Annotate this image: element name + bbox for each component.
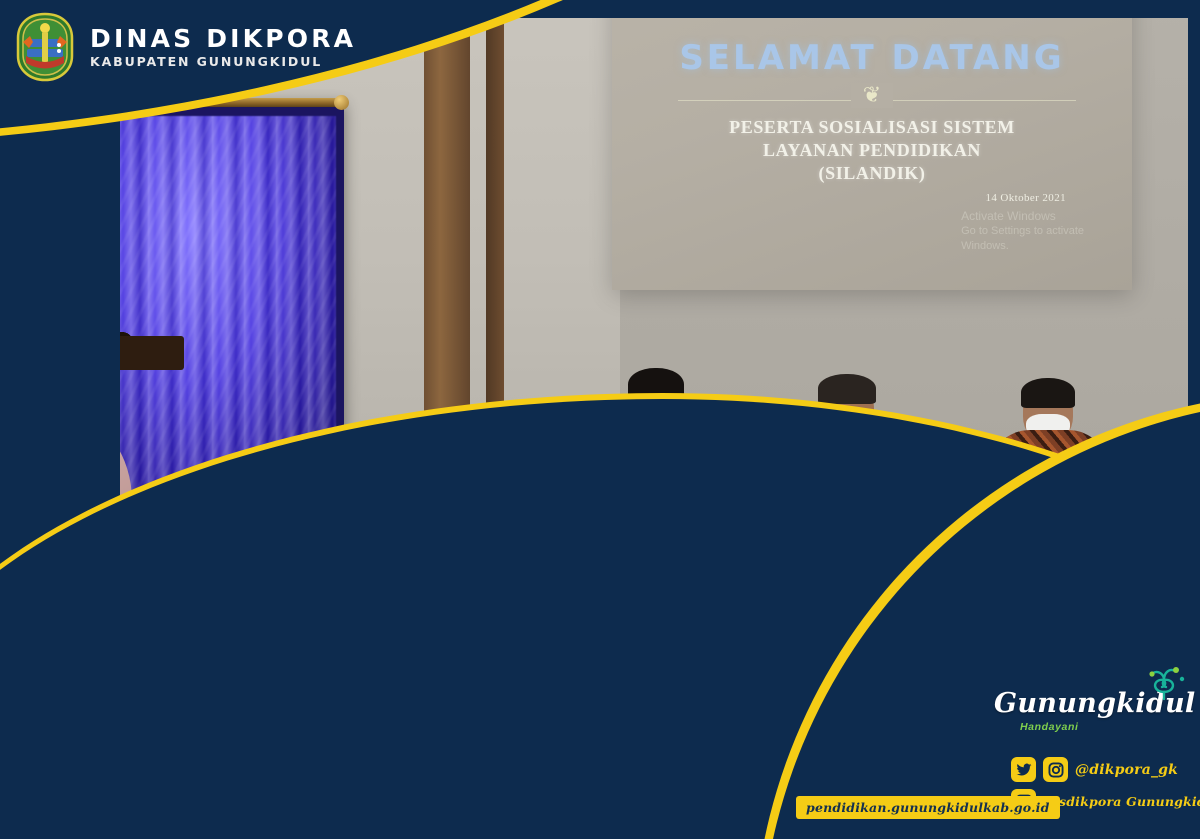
wall-pillar-center-2 <box>486 0 504 520</box>
curtain-rod-knob-left <box>12 95 27 110</box>
brand-lockup: DINAS DIKPORA KABUPATEN GUNUNGKIDUL <box>14 12 356 82</box>
attendee-maroon-right <box>1128 414 1200 604</box>
attendee-yellow-1-brooch <box>186 500 238 536</box>
slide-subtitle-line-3: (SILANDIK) <box>612 162 1132 185</box>
attendee-yellow-2-band <box>300 612 420 626</box>
social-row-primary: @dikpora_gk <box>1011 757 1186 782</box>
attendee-pink-mask <box>22 466 92 492</box>
website-url[interactable]: pendidikan.gunungkidulkab.go.id <box>796 796 1060 819</box>
twitter-bird-icon[interactable] <box>1011 757 1036 782</box>
handheld-microphone <box>843 432 853 466</box>
podium-plate <box>26 386 72 397</box>
poster-frame: SELAMAT DATANG ❦ PESERTA SOSIALISASI SIS… <box>0 0 1200 839</box>
projection-screen: SELAMAT DATANG ❦ PESERTA SOSIALISASI SIS… <box>612 0 1132 290</box>
watermark-line-1: Activate Windows <box>961 208 1084 224</box>
attendee-yellow-2 <box>258 498 476 798</box>
city-tagline: Handayani <box>1020 721 1184 733</box>
slide-subtitle: PESERTA SOSIALISASI SISTEM LAYANAN PENDI… <box>612 116 1132 185</box>
windows-activation-watermark: Activate Windows Go to Settings to activ… <box>961 208 1084 254</box>
watermark-line-3: Windows. <box>961 239 1084 254</box>
slide-title: SELAMAT DATANG <box>612 38 1132 78</box>
social-handle-primary: @dikpora_gk <box>1075 762 1178 778</box>
slide-ornament: ❦ <box>612 83 1132 108</box>
instagram-camera-icon[interactable] <box>1043 757 1068 782</box>
slide-subtitle-line-1: PESERTA SOSIALISASI SISTEM <box>612 116 1132 139</box>
watermark-line-2: Go to Settings to activate <box>961 224 1084 239</box>
speaker-left-hair <box>628 368 684 402</box>
batik-flourish-icon <box>1142 662 1186 702</box>
speaker-right-hair <box>1021 378 1075 408</box>
curtain-rod-knob-right <box>334 95 349 110</box>
slide-subtitle-line-2: LAYANAN PENDIDIKAN <box>612 139 1132 162</box>
desk-microphone-right <box>944 476 964 496</box>
attendee-cream <box>1000 452 1148 642</box>
podium-top <box>0 336 184 370</box>
gunungkidul-regency-crest-icon <box>14 12 76 82</box>
speaker-center-hair <box>818 374 876 404</box>
org-subname: KABUPATEN GUNUNGKIDUL <box>90 56 356 69</box>
curtain-rod <box>20 98 342 107</box>
city-brand-lockup: Gunungkidul Handayani <box>994 688 1184 733</box>
wall-pillar-center <box>424 0 470 520</box>
slide-date: 14 Oktober 2021 <box>985 192 1066 204</box>
org-name: DINAS DIKPORA <box>90 26 356 51</box>
social-handle-facebook: Disdikpora Gunungkidul <box>1043 794 1200 809</box>
